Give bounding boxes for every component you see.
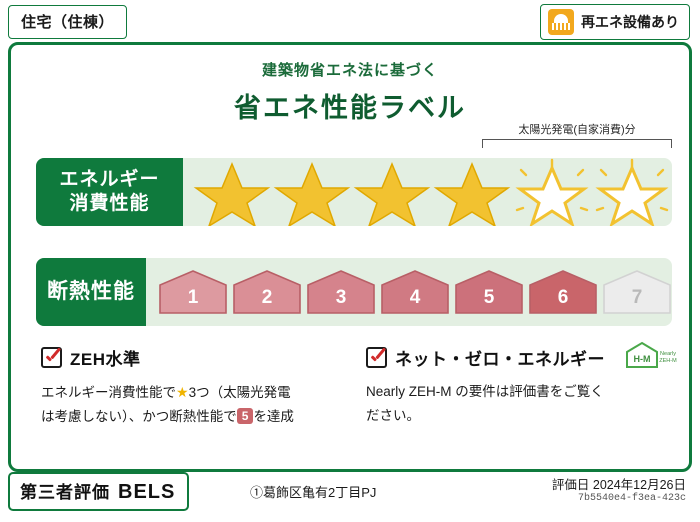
zeh-desc-line2a: は考慮しない）、かつ断熱性能で	[41, 409, 237, 424]
net-zero-desc-line2: ださい。	[366, 408, 420, 423]
solar-annotation-label: 太陽光発電(自家消費)分	[482, 121, 672, 137]
insulation-level-6-value: 6	[558, 287, 569, 315]
building-type-badge: 住宅（住棟）	[8, 5, 127, 39]
inline-level-badge: 5	[237, 408, 254, 424]
energy-label-line1: エネルギー	[59, 168, 159, 192]
net-zero-desc-line1: Nearly ZEH-M の要件は評価書をご覧く	[366, 384, 604, 399]
third-party-label: 第三者評価	[20, 478, 110, 503]
zeh-desc-line1a: エネルギー消費性能で	[41, 385, 176, 400]
net-zero-check-description: Nearly ZEH-M の要件は評価書をご覧く ださい。	[366, 380, 686, 427]
zeh-desc-line1b: 3つ（太陽光発電	[189, 385, 291, 400]
insulation-level-3: 3	[306, 269, 376, 315]
zeh-check-block: ZEH水準 エネルギー消費性能で★3つ（太陽光発電 は考慮しない）、かつ断熱性能…	[41, 345, 351, 428]
checkmark-icon	[366, 347, 387, 368]
insulation-level-7-value: 7	[632, 287, 643, 315]
svg-text:H-M: H-M	[634, 354, 651, 364]
zeh-check-description: エネルギー消費性能で★3つ（太陽光発電 は考慮しない）、かつ断熱性能で5を達成	[41, 380, 351, 428]
insulation-level-5: 5	[454, 269, 524, 315]
evaluation-date: 評価日 2024年12月26日	[552, 474, 686, 493]
bels-badge: 第三者評価 BELS	[8, 472, 189, 511]
insulation-level-7: 7	[602, 269, 672, 315]
nearly-zeh-m-house-icon: H-M Nearly ZEH-M	[624, 341, 680, 375]
panel-subtitle: 建築物省エネ法に基づく	[11, 59, 689, 80]
insulation-level-2-value: 2	[262, 287, 273, 315]
insulation-level-3-value: 3	[336, 287, 347, 315]
energy-label-line2: 消費性能	[69, 192, 149, 216]
solar-bracket	[482, 139, 672, 148]
checkmark-icon	[41, 347, 62, 368]
star-rating	[183, 158, 672, 226]
svg-text:Nearly: Nearly	[660, 351, 676, 357]
net-zero-check-header: ネット・ゼロ・エネルギー H-M Nearly ZEH-M	[366, 345, 686, 370]
certification-checks: ZEH水準 エネルギー消費性能で★3つ（太陽光発電 は考慮しない）、かつ断熱性能…	[11, 345, 692, 472]
panel-header: 建築物省エネ法に基づく 省エネ性能ラベル	[11, 45, 689, 125]
net-zero-check-block: ネット・ゼロ・エネルギー H-M Nearly ZEH-M Nearly ZEH…	[366, 345, 686, 427]
energy-label-panel: 建築物省エネ法に基づく 省エネ性能ラベル 太陽光発電(自家消費)分 エネルギー …	[8, 42, 692, 472]
insulation-level-1-value: 1	[188, 287, 199, 315]
star-filled	[433, 158, 511, 226]
top-row: 住宅（住棟） 再エネ設備あり	[0, 0, 700, 44]
energy-performance-label: エネルギー 消費性能	[36, 158, 183, 226]
net-zero-check-title: ネット・ゼロ・エネルギー	[395, 345, 605, 370]
renewable-equipment-badge: 再エネ設備あり	[540, 4, 690, 40]
zeh-check-header: ZEH水準	[41, 345, 351, 370]
insulation-level-2: 2	[232, 269, 302, 315]
insulation-level-5-value: 5	[484, 287, 495, 315]
insulation-label-text: 断熱性能	[47, 279, 135, 305]
insulation-level-6: 6	[528, 269, 598, 315]
renewable-badge-label: 再エネ設備あり	[581, 12, 679, 32]
zeh-desc-line2b: を達成	[253, 409, 294, 424]
footer: 第三者評価 BELS ①葛飾区亀有2丁目PJ 評価日 2024年12月26日 7…	[0, 470, 700, 522]
svg-text:ZEH-M: ZEH-M	[659, 358, 677, 364]
building-type-label: 住宅（住棟）	[21, 14, 114, 31]
evaluation-id: 7b5540e4-f3ea-423c	[578, 493, 686, 504]
insulation-level-4-value: 4	[410, 287, 421, 315]
bels-label: BELS	[118, 481, 175, 504]
star-solar-outline	[513, 158, 591, 226]
solar-sun-icon	[548, 9, 574, 35]
zeh-check-title: ZEH水準	[70, 345, 141, 370]
panel-title: 省エネ性能ラベル	[11, 86, 689, 125]
insulation-performance-label: 断熱性能	[36, 258, 146, 326]
star-filled	[273, 158, 351, 226]
star-filled	[193, 158, 271, 226]
project-name: ①葛飾区亀有2丁目PJ	[250, 482, 376, 501]
insulation-performance-row: 断熱性能 1 2 3 4 5	[36, 258, 672, 326]
solar-annotation: 太陽光発電(自家消費)分	[482, 121, 672, 148]
insulation-level-scale: 1 2 3 4 5 6 7	[146, 258, 672, 326]
inline-star-icon: ★	[176, 384, 189, 400]
insulation-level-1: 1	[158, 269, 228, 315]
star-solar-outline	[593, 158, 671, 226]
insulation-level-4: 4	[380, 269, 450, 315]
energy-performance-row: エネルギー 消費性能	[36, 158, 672, 226]
star-filled	[353, 158, 431, 226]
